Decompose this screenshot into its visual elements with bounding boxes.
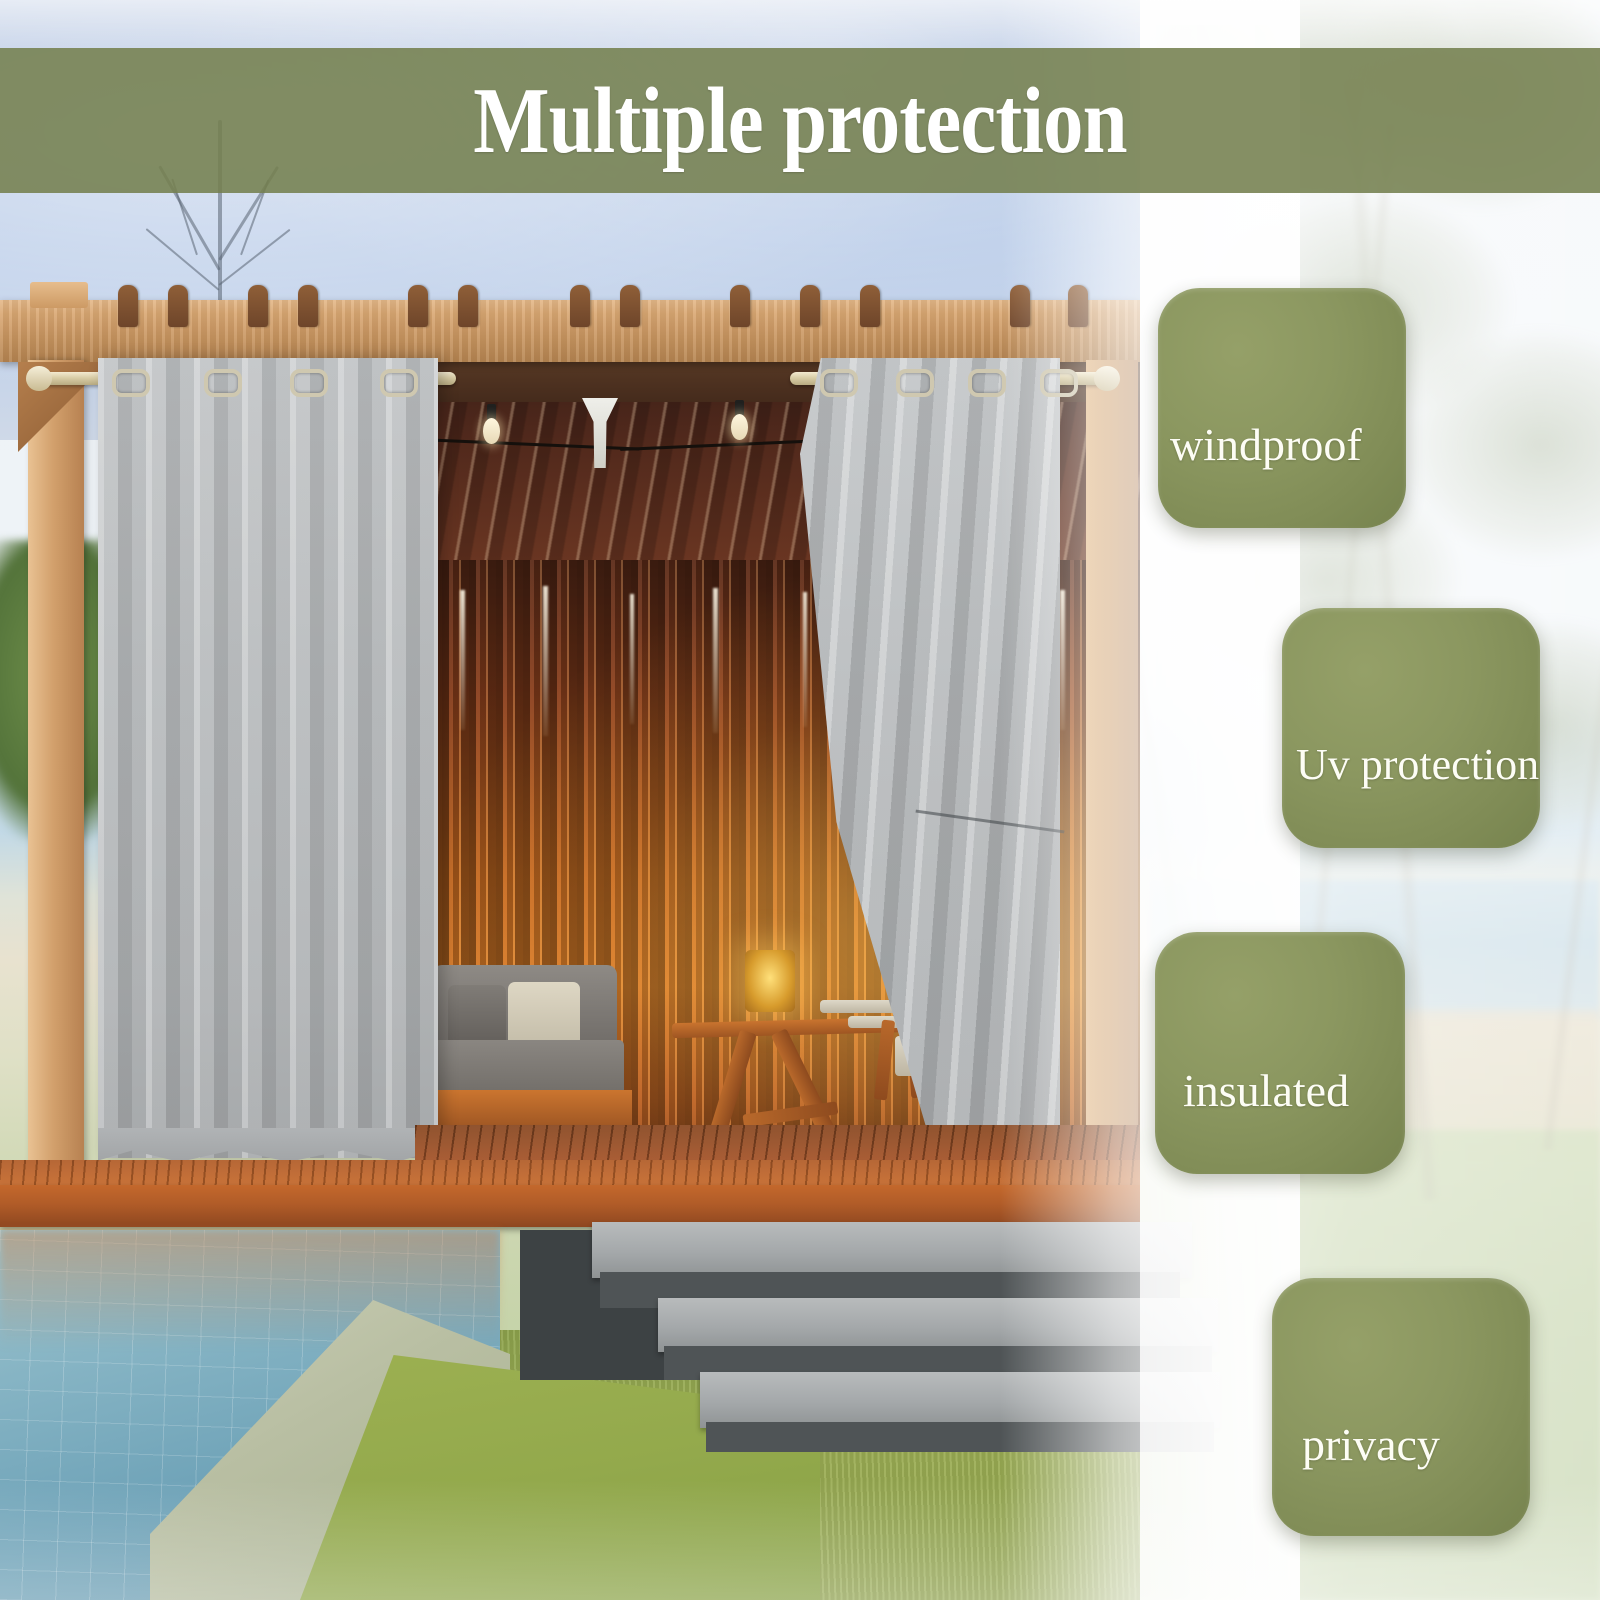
rafter-tail <box>168 285 188 327</box>
sofa-seat <box>426 1040 624 1095</box>
step-top <box>592 1222 1192 1278</box>
deck-fascia <box>0 1185 1140 1227</box>
slat-light <box>630 594 634 724</box>
sofa-pillow <box>508 982 580 1048</box>
curtain-panel-left <box>98 358 438 1158</box>
slat-light <box>1060 590 1065 730</box>
sofa-base <box>420 1090 632 1130</box>
infographic-canvas: Multiple protection windproof Uv protect… <box>0 0 1600 1600</box>
rafter-tail <box>408 285 428 327</box>
curtain-grommet-icon <box>380 369 418 397</box>
slat-light <box>543 586 548 736</box>
rafter-tail <box>1010 285 1030 327</box>
light-bulb-icon <box>731 414 748 440</box>
rafter-tail <box>730 285 750 327</box>
title-banner: Multiple protection <box>0 48 1600 193</box>
curtain-grommet-icon <box>820 369 858 397</box>
step-riser <box>706 1422 1214 1452</box>
curtain-grommet-icon <box>290 369 328 397</box>
lantern <box>745 950 795 1012</box>
rafter-tail <box>248 285 268 327</box>
step-middle <box>658 1298 1218 1352</box>
pergola-post-left <box>28 360 84 1200</box>
feature-badge-insulated[interactable]: insulated <box>1155 932 1405 1174</box>
rafter-tail <box>800 285 820 327</box>
curtain-grommet-icon <box>1040 369 1078 397</box>
feature-badge-privacy[interactable]: privacy <box>1272 1278 1530 1536</box>
page-title: Multiple protection <box>473 74 1127 168</box>
feature-badge-label: insulated <box>1155 1068 1349 1114</box>
post-cap <box>30 282 88 308</box>
slat-light <box>460 590 465 730</box>
rafter-tail <box>298 285 318 327</box>
rafter-tail <box>570 285 590 327</box>
feature-badge-label: windproof <box>1158 422 1362 468</box>
step-bottom <box>700 1372 1220 1428</box>
feature-badge-uv-protection[interactable]: Uv protection <box>1282 608 1540 848</box>
curtain-grommet-icon <box>112 369 150 397</box>
feature-badge-label: Uv protection <box>1282 743 1539 787</box>
sofa-pillow <box>448 985 506 1047</box>
light-bulb-icon <box>483 418 500 444</box>
rafter-tail <box>1068 285 1088 327</box>
rafter-tail <box>458 285 478 327</box>
rod-end-cap <box>1094 366 1120 391</box>
feature-badge-windproof[interactable]: windproof <box>1158 288 1406 528</box>
curtain-grommet-icon <box>968 369 1006 397</box>
curtain-grommet-icon <box>204 369 242 397</box>
rod-end-cap <box>26 366 52 391</box>
slat-light <box>713 588 718 733</box>
rafter-tail <box>118 285 138 327</box>
slat-light <box>803 592 807 727</box>
feature-badge-label: privacy <box>1272 1422 1440 1468</box>
rafter-tail <box>620 285 640 327</box>
pergola-post-right <box>1086 360 1138 1200</box>
curtain-grommet-icon <box>896 369 934 397</box>
rafter-tail <box>860 285 880 327</box>
